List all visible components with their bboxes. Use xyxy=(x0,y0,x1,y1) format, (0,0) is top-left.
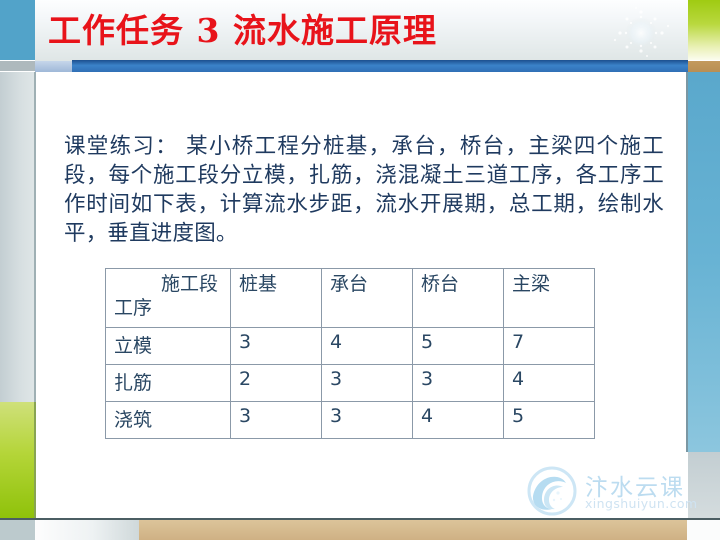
duration-table-wrapper: 施工段 工序 桩基 承台 桥台 主梁 立模 3 4 5 7 扎筋 xyxy=(105,268,595,439)
column-header-2: 承台 xyxy=(322,269,413,328)
decor-bottom-gray-block xyxy=(0,520,35,540)
row-label-2: 扎筋 xyxy=(106,365,231,402)
process-duration-table: 施工段 工序 桩基 承台 桥台 主梁 立模 3 4 5 7 扎筋 xyxy=(105,268,595,439)
table-body: 施工段 工序 桩基 承台 桥台 主梁 立模 3 4 5 7 扎筋 xyxy=(106,269,595,439)
decor-left-gray-panel xyxy=(0,72,35,402)
slide-canvas: 工作任务 3 流水施工原理 课堂练习： 某小桥工程分桩基，承台，桥台，主梁四个施… xyxy=(0,0,720,540)
decor-header-blue-rule xyxy=(72,60,688,72)
decor-left-green-panel xyxy=(0,402,35,518)
cell-r2c3: 3 xyxy=(413,365,504,402)
decor-header-rule-right xyxy=(688,61,720,72)
decor-bottom-tan-bar xyxy=(139,520,687,540)
decor-top-left-blue-block xyxy=(0,0,35,60)
cell-r2c2: 3 xyxy=(322,365,413,402)
cell-r2c1: 2 xyxy=(231,365,322,402)
column-header-1: 桩基 xyxy=(231,269,322,328)
decor-left-green-panel-border xyxy=(34,402,36,518)
starburst-sparkle-icon xyxy=(608,6,674,60)
decor-right-gray-panel xyxy=(688,452,720,518)
decor-bottom-white-block xyxy=(35,520,139,540)
table-corner-header: 施工段 工序 xyxy=(106,269,231,328)
watermark: 汴水云课 xingshuiyun.com xyxy=(527,466,687,518)
decor-left-gray-panel-border xyxy=(34,72,36,402)
cell-r1c2: 4 xyxy=(322,328,413,365)
table-row: 浇筑 3 3 4 5 xyxy=(106,402,595,439)
column-header-3: 桥台 xyxy=(413,269,504,328)
wave-logo-icon xyxy=(527,466,577,516)
corner-label-process: 工序 xyxy=(114,296,222,320)
watermark-cn-text: 汴水云课 xyxy=(585,468,685,502)
cell-r2c4: 4 xyxy=(504,365,595,402)
cell-r3c3: 4 xyxy=(413,402,504,439)
cell-r1c1: 3 xyxy=(231,328,322,365)
cell-r1c3: 5 xyxy=(413,328,504,365)
exercise-paragraph: 课堂练习： 某小桥工程分桩基，承台，桥台，主梁四个施工段，每个施工段分立模，扎筋… xyxy=(64,132,664,248)
table-header-row: 施工段 工序 桩基 承台 桥台 主梁 xyxy=(106,269,595,328)
page-title: 工作任务 3 流水施工原理 xyxy=(48,6,608,56)
content-area: 课堂练习： 某小桥工程分桩基，承台，桥台，主梁四个施工段，每个施工段分立模，扎筋… xyxy=(64,132,664,248)
decor-bottom-right-white-block xyxy=(687,520,720,540)
decor-right-blue-panel xyxy=(688,72,720,452)
table-row: 立模 3 4 5 7 xyxy=(106,328,595,365)
decor-header-rule-pale xyxy=(35,61,72,72)
cell-r3c1: 3 xyxy=(231,402,322,439)
cell-r3c2: 3 xyxy=(322,402,413,439)
decor-top-right-green-block xyxy=(688,0,720,60)
cell-r3c4: 5 xyxy=(504,402,595,439)
corner-label-section: 施工段 xyxy=(114,272,222,296)
watermark-en-text: xingshuiyun.com xyxy=(585,496,697,511)
row-label-1: 立模 xyxy=(106,328,231,365)
row-label-3: 浇筑 xyxy=(106,402,231,439)
table-row: 扎筋 2 3 3 4 xyxy=(106,365,595,402)
cell-r1c4: 7 xyxy=(504,328,595,365)
column-header-4: 主梁 xyxy=(504,269,595,328)
